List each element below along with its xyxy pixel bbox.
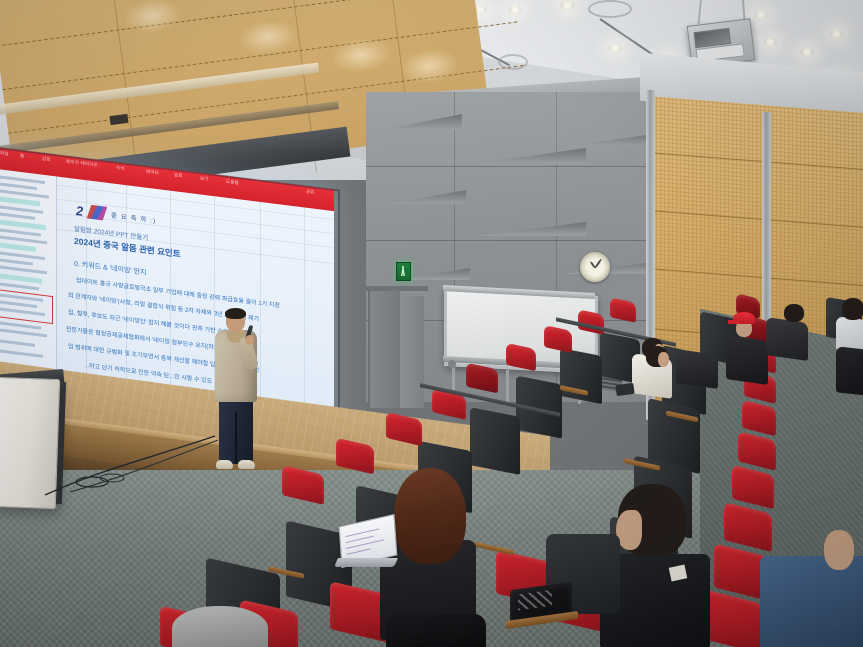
slide-header: 중 요 축 하 :) [111, 209, 156, 225]
acoustic-diffuser-panel [388, 190, 466, 204]
attendee-foreground [386, 614, 486, 647]
flag-accent-icon [87, 205, 108, 220]
attendee-head [784, 304, 804, 322]
slide-line-0: 0. 키워드 & '네이밍' 만지 [74, 259, 146, 278]
attendee-torso [676, 349, 718, 389]
toolbar-item-2[interactable]: 삽입 [42, 156, 51, 163]
wall-clock [580, 252, 610, 282]
attendee-hair [394, 468, 466, 564]
downlight [608, 44, 622, 52]
downlight [800, 48, 814, 56]
laptop-keyboard[interactable] [334, 558, 398, 567]
presenter-hair [225, 308, 246, 319]
toolbar-item-3[interactable]: 페이지 레이아웃 [66, 159, 98, 169]
presenter-leg-gap [235, 412, 237, 464]
toolbar-item-7[interactable]: 보기 [200, 176, 209, 183]
attendee-torso [726, 335, 768, 385]
running-man-icon [401, 266, 405, 276]
toolbar-share-button[interactable]: 공유 [306, 189, 315, 196]
presenter-shoe-left [216, 460, 233, 469]
auditorium-scene: 파일 홈 삽입 페이지 레이아웃 수식 데이터 검토 보기 도움말 공유 [0, 0, 863, 647]
toolbar-item-8[interactable]: 도움말 [226, 179, 239, 187]
attendee-grey-cap [172, 606, 268, 647]
attendee-face [658, 352, 669, 367]
downlight [754, 11, 768, 19]
downlight [830, 30, 843, 38]
exit-sign [396, 262, 411, 281]
attendee-hand [824, 530, 854, 570]
ceiling-ring-fixture [588, 0, 632, 18]
downlight [560, 1, 575, 10]
stage-door-right [400, 296, 424, 408]
acoustic-diffuser-panel [476, 222, 586, 236]
clock-minute-hand [594, 259, 602, 269]
toolbar-item-1[interactable]: 홈 [20, 153, 24, 160]
attendee-lap [836, 346, 863, 395]
toolbar-item-4[interactable]: 수식 [116, 165, 125, 172]
downlight [764, 38, 777, 46]
whiteboard-leg [506, 370, 509, 402]
downlight [508, 6, 522, 14]
attendee-head [842, 298, 863, 320]
seat-back[interactable] [470, 407, 520, 475]
slide-number: 2 [76, 203, 83, 219]
door-header [364, 286, 428, 291]
wall-column-right [762, 112, 771, 343]
presenter-shoe-right [238, 460, 255, 469]
toolbar-item-0[interactable]: 파일 [0, 151, 9, 158]
toolbar-item-6[interactable]: 검토 [174, 172, 183, 179]
acoustic-diffuser-panel [382, 114, 462, 130]
seat-back[interactable] [560, 348, 602, 404]
acoustic-diffuser-panel [474, 148, 586, 164]
presenter-hand [245, 335, 254, 345]
attendee-torso [766, 317, 808, 361]
whiteboard-caster [448, 360, 456, 368]
toolbar-item-5[interactable]: 데이터 [146, 169, 159, 177]
cap-brim [728, 320, 740, 324]
attendee-torso [760, 556, 863, 647]
stage-door-left [368, 290, 400, 408]
